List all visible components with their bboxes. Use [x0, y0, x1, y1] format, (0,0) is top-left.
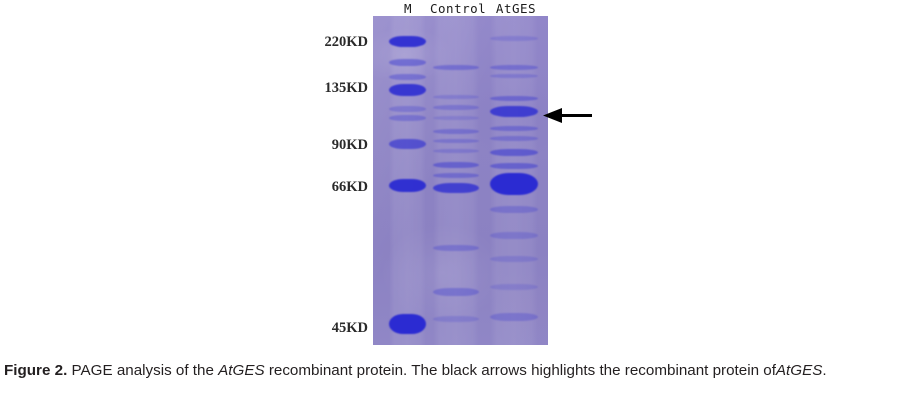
- left-arrow-icon: [543, 107, 593, 124]
- caption-text-part1: PAGE analysis of the: [72, 362, 214, 379]
- figure-caption: Figure 2. PAGE analysis of the AtGES rec…: [0, 352, 915, 383]
- gel-band: [389, 139, 426, 149]
- gel-band: [490, 36, 538, 41]
- gel-band: [490, 65, 538, 70]
- gel-band: [433, 95, 479, 99]
- caption-text-part2: recombinant protein. The black arrows hi…: [269, 362, 776, 379]
- gel-band: [433, 65, 479, 70]
- gel-band: [389, 74, 426, 80]
- gel-band: [389, 59, 426, 66]
- caption-italic-atges-2: AtGES: [776, 362, 822, 379]
- mw-label-45kd: 45KD: [332, 320, 368, 337]
- gel-band: [490, 313, 538, 321]
- gel-band: [389, 314, 426, 334]
- gel-band: [433, 183, 479, 193]
- gel-band: [433, 139, 479, 143]
- lane-header-control: Control: [430, 1, 484, 16]
- gel-band: [389, 84, 426, 96]
- gel-band: [433, 129, 479, 134]
- mw-label-66kd: 66KD: [332, 179, 368, 196]
- gel-band: [490, 163, 538, 169]
- gel-band: [433, 105, 479, 110]
- gel-band: [433, 173, 479, 178]
- gel-band: [490, 106, 538, 117]
- gel-band: [433, 149, 479, 153]
- gel-band: [433, 116, 479, 120]
- gel-band: [389, 115, 426, 121]
- gel-band: [490, 74, 538, 78]
- gel-band: [433, 162, 479, 168]
- gel-band: [490, 206, 538, 213]
- gel-band: [490, 126, 538, 131]
- gel-lane-marker: [389, 16, 426, 345]
- figure-image: M Control AtGES 220KD 135KD 90KD 66KD 45…: [0, 0, 915, 352]
- mw-label-220kd: 220KD: [325, 34, 369, 51]
- lane-header-atges: AtGES: [490, 1, 542, 16]
- gel-lane-atges: [490, 16, 538, 345]
- gel-band: [490, 96, 538, 101]
- page-gel-image: [373, 16, 548, 345]
- gel-band: [433, 316, 479, 322]
- gel-lane-control: [433, 16, 479, 345]
- gel-band: [433, 245, 479, 251]
- gel-band: [389, 36, 426, 47]
- mw-label-135kd: 135KD: [325, 80, 369, 97]
- caption-figure-number: Figure 2.: [4, 362, 67, 379]
- caption-text-part3: .: [822, 362, 826, 379]
- gel-band: [389, 106, 426, 112]
- molecular-weight-scale: 220KD 135KD 90KD 66KD 45KD: [300, 16, 368, 346]
- lane-header-marker: M: [390, 1, 426, 16]
- caption-italic-atges-1: AtGES: [218, 362, 264, 379]
- gel-band: [490, 284, 538, 290]
- gel-band: [490, 136, 538, 141]
- mw-label-90kd: 90KD: [332, 137, 368, 154]
- gel-band: [490, 256, 538, 262]
- gel-band: [389, 179, 426, 192]
- gel-band: [490, 149, 538, 156]
- gel-band: [433, 288, 479, 296]
- gel-band: [490, 232, 538, 239]
- gel-band: [490, 173, 538, 195]
